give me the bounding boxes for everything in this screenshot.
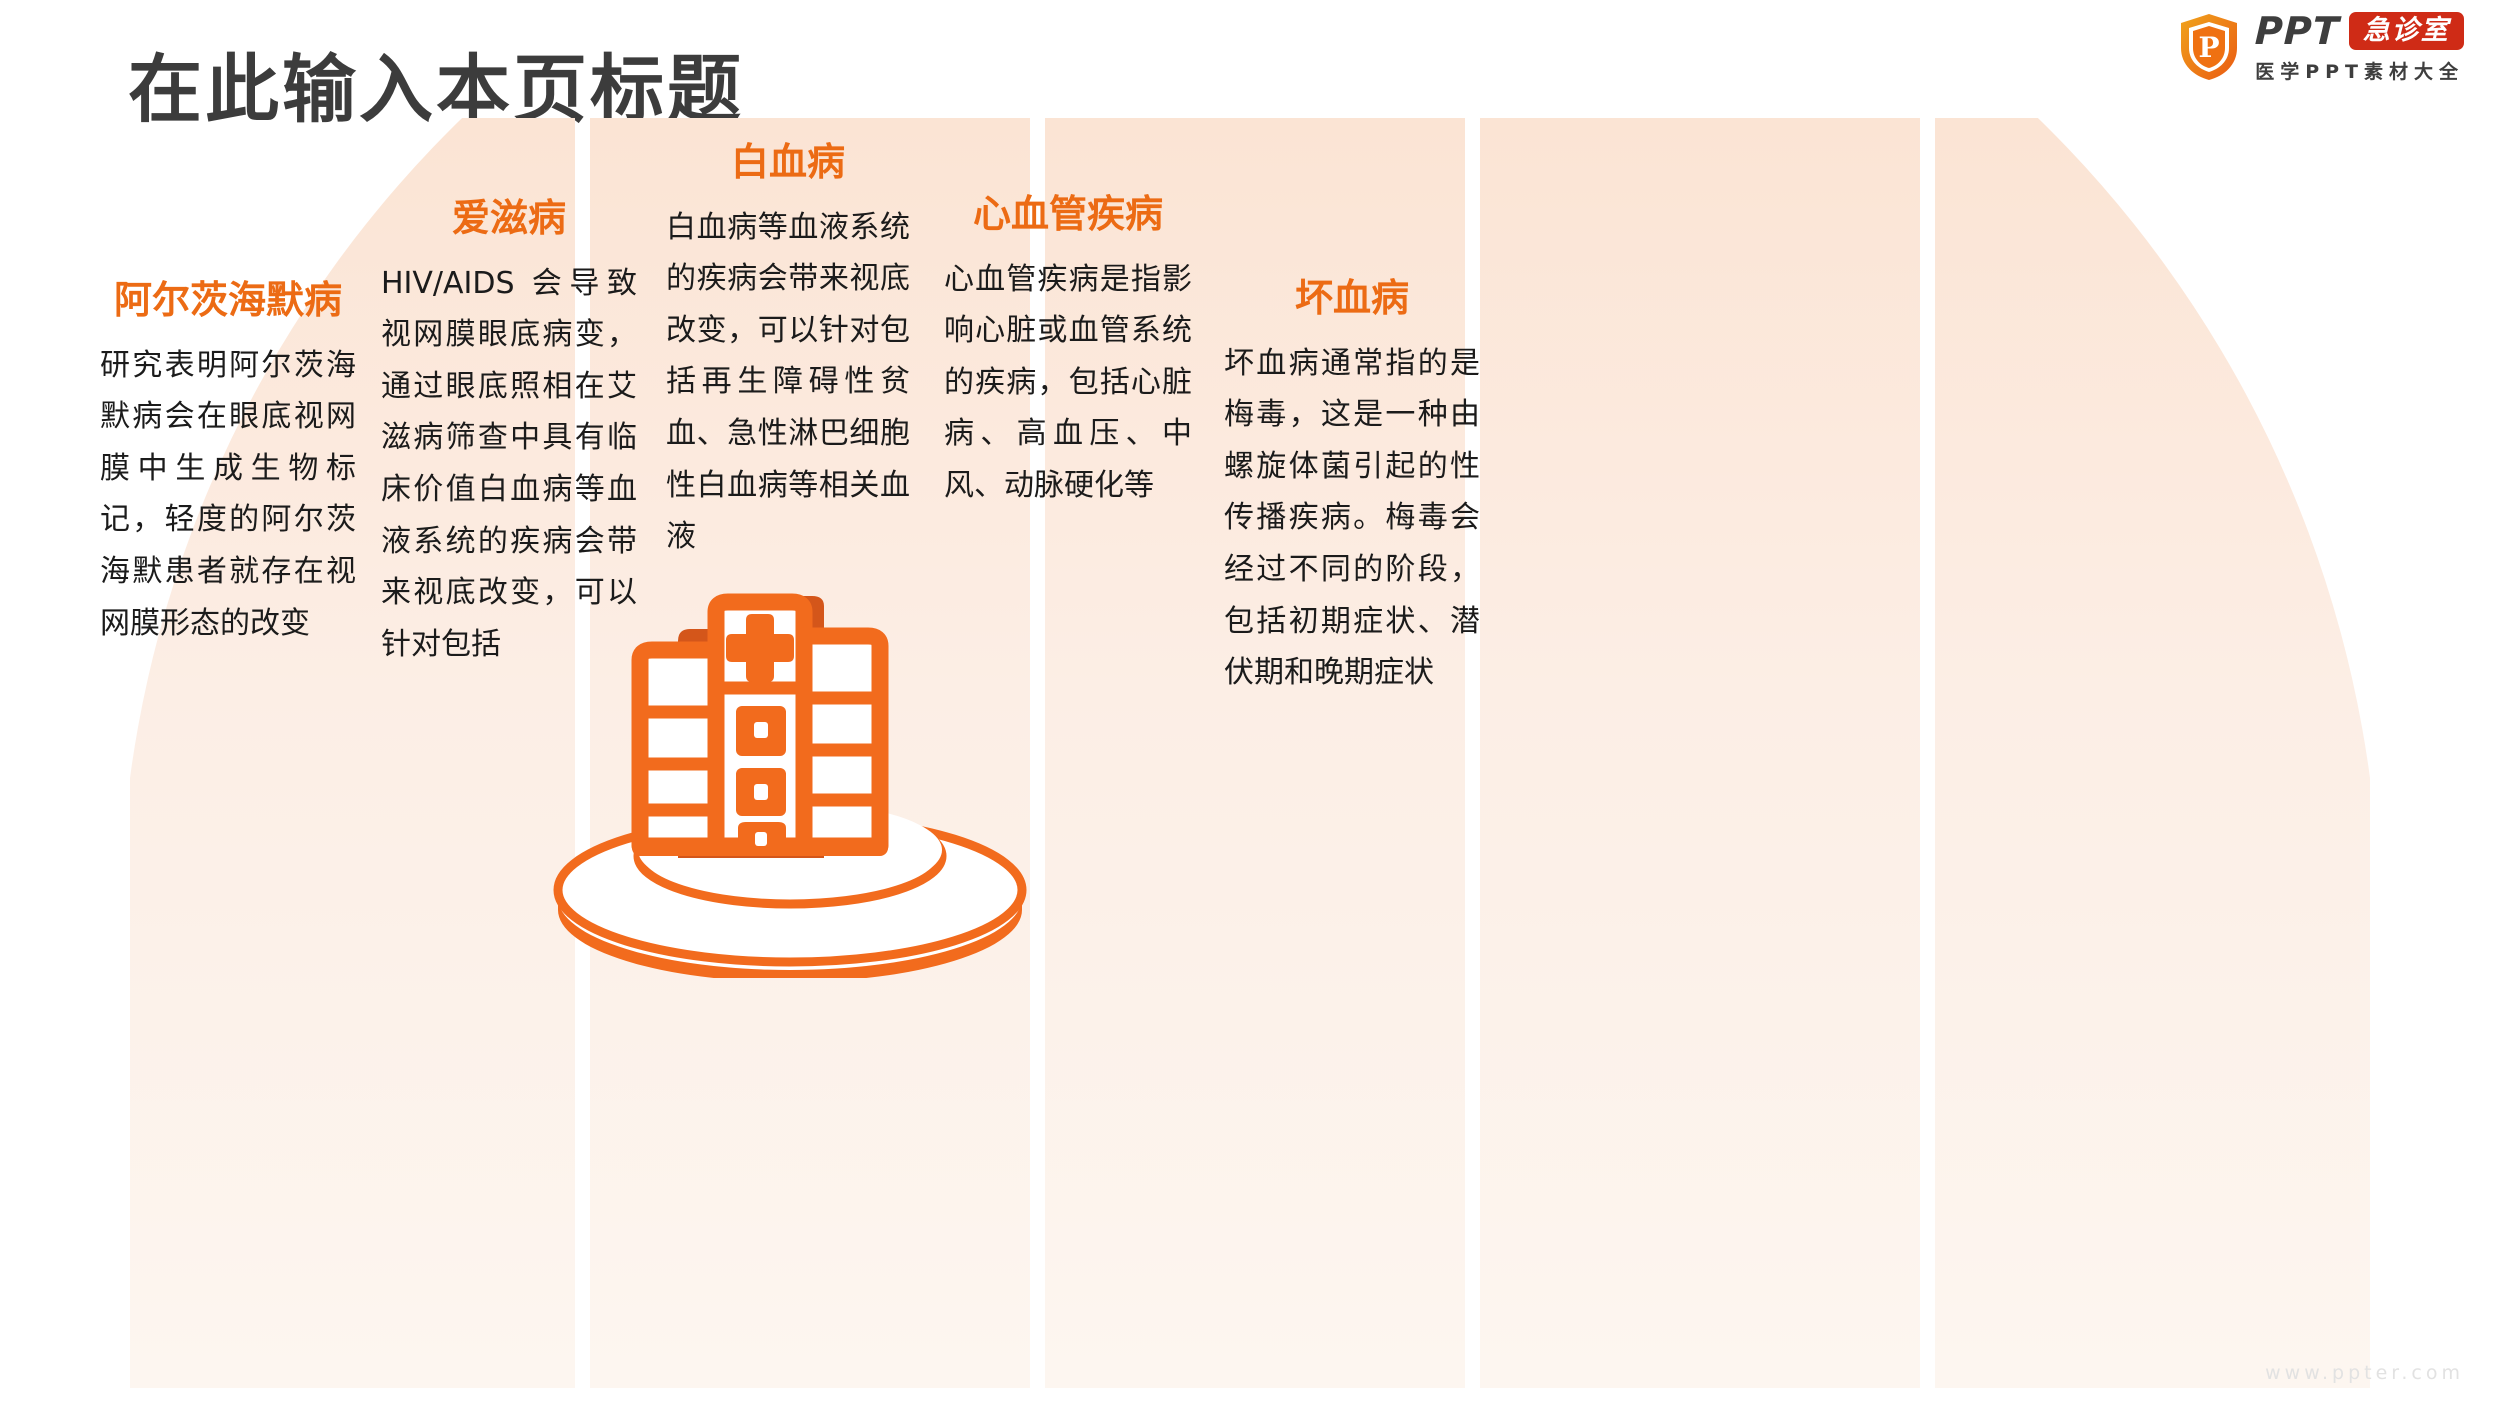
panel-alzheimer[interactable]: 阿尔茨海默病 研究表明阿尔茨海默病会在眼底视网膜中生成生物标记，轻度的阿尔茨海默…	[100, 278, 356, 649]
panel-heading: 阿尔茨海默病	[100, 278, 356, 324]
panel-heading: 白血病	[666, 140, 910, 186]
panel-cardiovascular[interactable]: 心血管疾病 心血管疾病是指影响心脏或血管系统的疾病，包括心脏病、高血压、中风、动…	[944, 192, 1192, 512]
logo-badge: 急诊室	[2349, 12, 2464, 50]
logo-tagline: 医学PPT素材大全	[2255, 57, 2464, 84]
panel-heading: 坏血病	[1224, 276, 1480, 322]
panel-body: 心血管疾病是指影响心脏或血管系统的疾病，包括心脏病、高血压、中风、动脉硬化等	[944, 254, 1192, 512]
hospital-building-icon	[540, 588, 1040, 978]
panel-heading: 心血管疾病	[944, 192, 1192, 238]
logo-primary-row: PPT 急诊室	[2255, 12, 2464, 50]
panel-body: 白血病等血液系统的疾病会带来视底改变，可以针对包括再生障碍性贫血、急性淋巴细胞性…	[666, 202, 910, 563]
panel-shape-4	[1935, 118, 2380, 1388]
logo-text-block: PPT 急诊室 医学PPT素材大全	[2255, 12, 2464, 84]
panel-body: 坏血病通常指的是梅毒，这是一种由螺旋体菌引起的性传播疾病。梅毒会经过不同的阶段，…	[1224, 338, 1480, 699]
panel-body: 研究表明阿尔茨海默病会在眼底视网膜中生成生物标记，轻度的阿尔茨海默患者就存在视网…	[100, 340, 356, 650]
brand-logo: P PPT 急诊室 医学PPT素材大全	[2177, 12, 2464, 84]
panel-leukemia[interactable]: 白血病 白血病等血液系统的疾病会带来视底改变，可以针对包括再生障碍性贫血、急性淋…	[666, 140, 910, 563]
panel-heading: 爱滋病	[381, 196, 637, 242]
panel-fan: 阿尔茨海默病 研究表明阿尔茨海默病会在眼底视网膜中生成生物标记，轻度的阿尔茨海默…	[0, 118, 2500, 1388]
svg-text:P: P	[2199, 31, 2220, 64]
site-watermark: www.ppter.com	[2265, 1362, 2464, 1384]
logo-wordmark: PPT	[2255, 12, 2341, 50]
slide-canvas: 在此输入本页标题 P PPT 急诊室 医学PPT素材大全	[0, 0, 2500, 1406]
panel-shape-3	[1480, 118, 1920, 1388]
shield-p-icon: P	[2177, 12, 2241, 82]
panel-scurvy[interactable]: 坏血病 坏血病通常指的是梅毒，这是一种由螺旋体菌引起的性传播疾病。梅毒会经过不同…	[1224, 276, 1480, 699]
